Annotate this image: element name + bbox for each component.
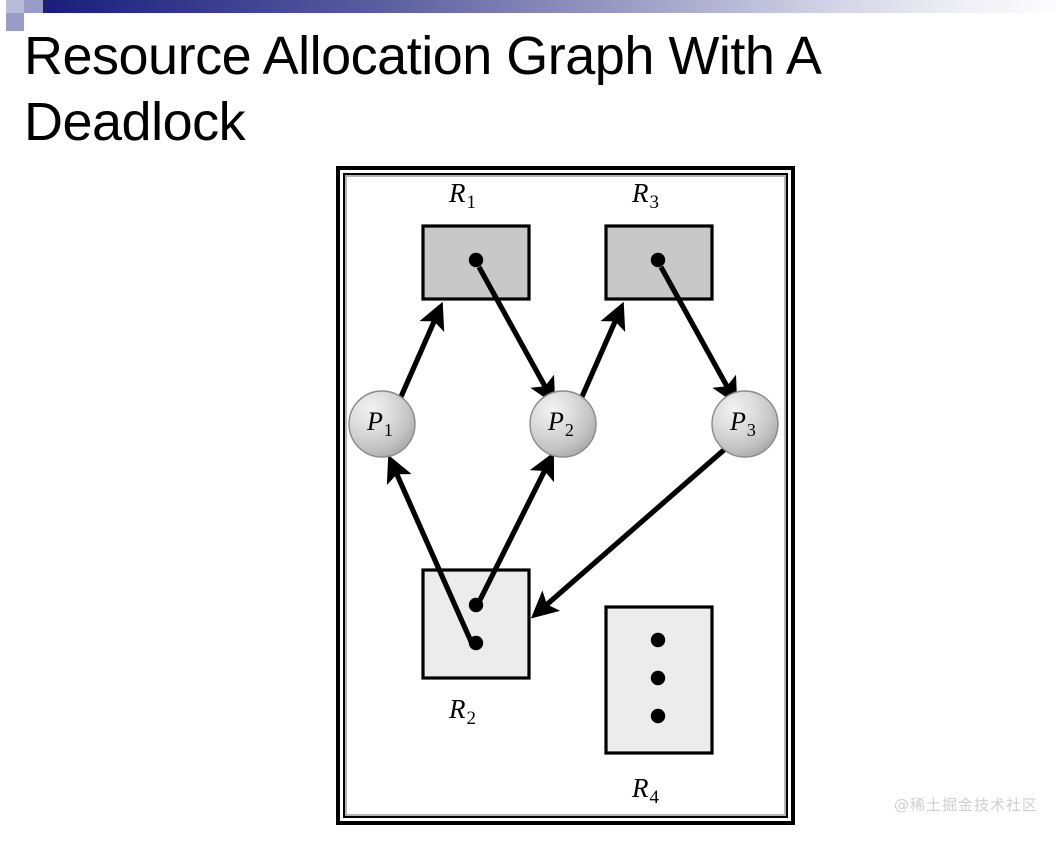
figure-frame-inner-border bbox=[343, 173, 788, 818]
process-label-p1: P1 bbox=[367, 407, 393, 441]
resource-label-r1: R1 bbox=[449, 178, 476, 214]
resource-label-r3: R3 bbox=[632, 178, 659, 214]
resource-label-r4: R4 bbox=[632, 773, 659, 809]
page-title: Resource Allocation Graph With A Deadloc… bbox=[24, 24, 1034, 156]
header-square-medium bbox=[24, 0, 43, 13]
header-square-lower bbox=[6, 13, 24, 31]
process-label-p3: P3 bbox=[730, 407, 756, 441]
process-label-p2: P2 bbox=[548, 407, 574, 441]
header-square-light bbox=[6, 0, 24, 13]
figure-frame bbox=[336, 166, 795, 825]
resource-label-r2: R2 bbox=[449, 694, 476, 730]
header-gradient-band bbox=[30, 0, 1056, 13]
watermark-text: @稀土掘金技术社区 bbox=[894, 794, 1038, 815]
